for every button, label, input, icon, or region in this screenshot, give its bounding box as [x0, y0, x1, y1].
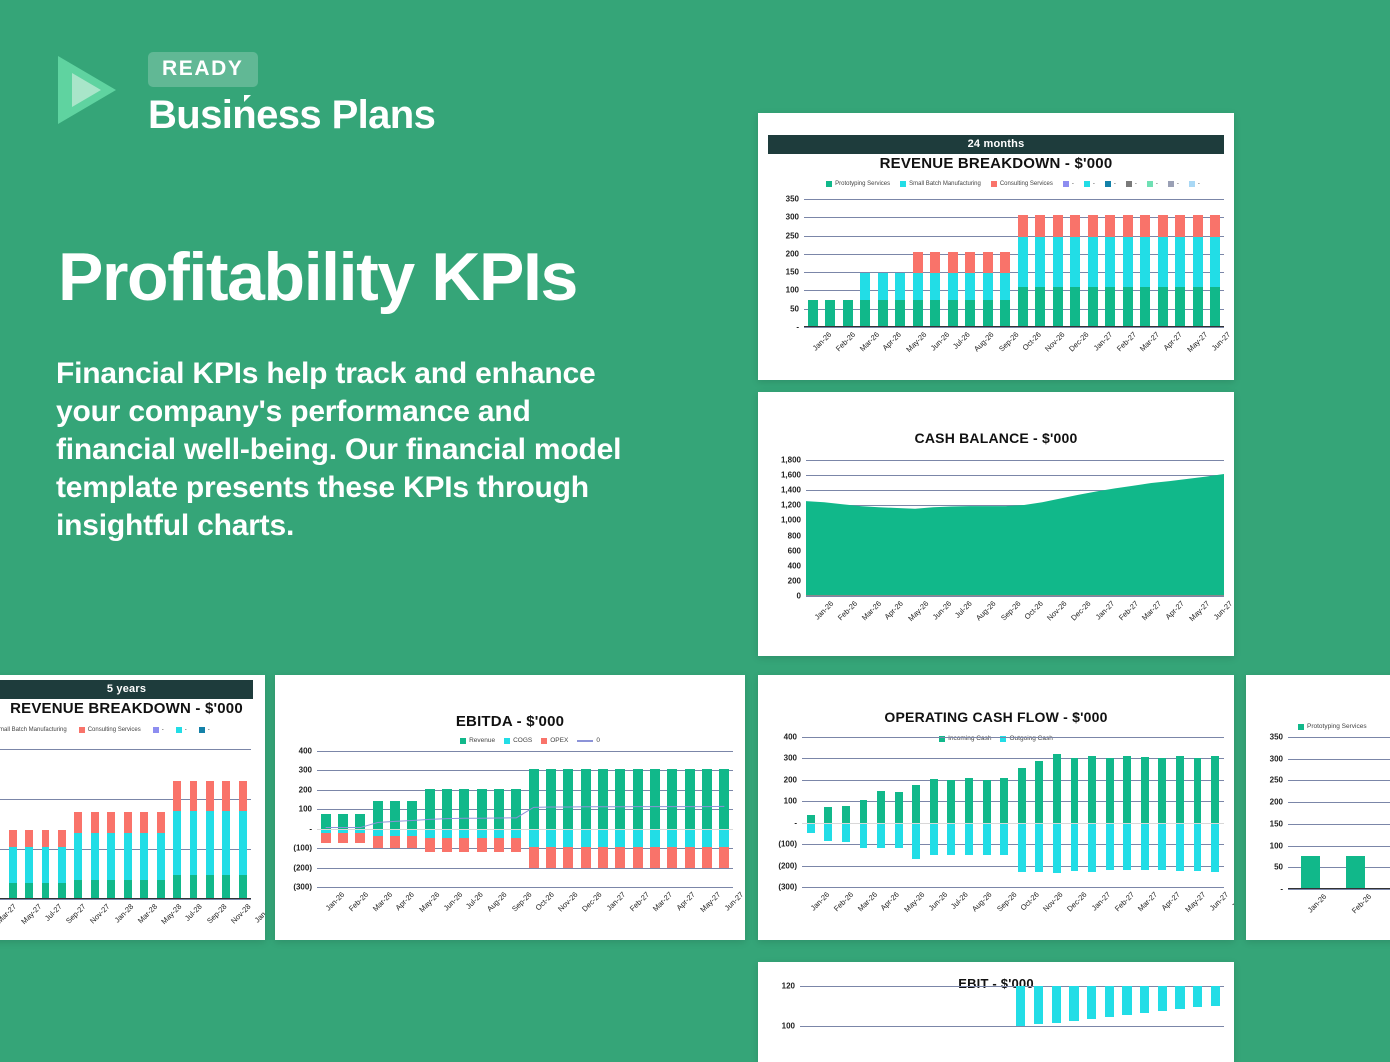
legend-label: Prototyping Services: [835, 181, 890, 187]
bar-group[interactable]: [21, 749, 37, 899]
legend-item[interactable]: -: [199, 727, 210, 733]
bar-segment: [1140, 237, 1150, 286]
legend-item[interactable]: -: [1063, 181, 1074, 187]
x-axis-tick-label: Sep-26: [997, 330, 1020, 353]
bar-group[interactable]: [1206, 986, 1224, 1062]
y-axis-tick-label: 200: [788, 576, 801, 585]
x-axis-tick-label: Mar-27: [1140, 599, 1163, 622]
bar-segment: [173, 781, 181, 811]
chart-card-cash-balance[interactable]: CASH BALANCE - $'000 02004006008001,0001…: [758, 392, 1234, 656]
legend-item[interactable]: OPEX: [541, 737, 568, 744]
chart-card-revenue-breakdown-24-months[interactable]: 24 months REVENUE BREAKDOWN - $'000 Prot…: [758, 113, 1234, 380]
bar-group[interactable]: [804, 199, 822, 327]
y-axis-tick-label: 300: [784, 754, 797, 763]
legend-item[interactable]: Prototyping Services: [1298, 723, 1367, 730]
y-axis-tick-label: 1,200: [781, 501, 801, 510]
x-axis-tick-label: Nov-27: [88, 902, 111, 925]
y-axis-tick-label: (100): [778, 840, 797, 849]
bar-group[interactable]: [857, 199, 875, 327]
bar-group[interactable]: [1118, 737, 1136, 887]
bar-segment: [25, 830, 33, 847]
bar-segment: [1088, 237, 1098, 286]
bar-segment: [824, 807, 832, 822]
chart-card-ebitda[interactable]: EBITDA - $'000 RevenueCOGSOPEX0 (300)(20…: [275, 675, 745, 940]
x-axis-tick-label: Mar-27: [0, 902, 18, 925]
bar-group[interactable]: [822, 199, 840, 327]
x-axis-tick-label: Dec-26: [581, 890, 604, 913]
bar-segment: [157, 812, 165, 833]
legend-item[interactable]: -: [1189, 181, 1200, 187]
legend-swatch-icon: [504, 738, 510, 744]
x-axis-tick-label: Feb-27: [628, 890, 651, 913]
bar-group[interactable]: [1013, 737, 1031, 887]
bar-segment: [1018, 287, 1028, 327]
legend-label: COGS: [513, 737, 532, 744]
bar-segment: [860, 300, 870, 327]
bar-group[interactable]: [120, 749, 136, 899]
legend-label: Small Batch Manufacturing: [909, 181, 981, 187]
x-axis-tick-label: Jan-26: [324, 890, 347, 913]
y-axis-tick-label: 150: [1270, 819, 1283, 828]
x-axis-tick-label: Mar-28: [135, 902, 158, 925]
bar-group[interactable]: [1137, 199, 1155, 327]
bar-segment: [1000, 273, 1010, 299]
x-axis-tick-label: May-27: [19, 902, 43, 926]
bar-group[interactable]: [1136, 737, 1154, 887]
bar-group[interactable]: [1065, 986, 1083, 1062]
bar-segment: [1088, 823, 1096, 873]
x-axis-tick-label: Jan-27: [1089, 890, 1112, 913]
bar-group[interactable]: [927, 199, 945, 327]
bar-segment: [222, 875, 230, 899]
chart-card-revenue-breakdown-5-years[interactable]: 5 years REVENUE BREAKDOWN - $'000 Small …: [0, 675, 265, 940]
bar-segment: [912, 823, 920, 859]
bar-segment: [91, 880, 99, 900]
bar-segment: [1070, 287, 1080, 327]
bar-segment: [1035, 237, 1045, 286]
bar-segment: [140, 812, 148, 833]
bar-segment: [825, 300, 835, 327]
bar: [1211, 986, 1220, 1006]
bar-group[interactable]: [1084, 199, 1102, 327]
legend-item[interactable]: -: [1105, 181, 1116, 187]
bar-segment: [930, 252, 940, 273]
bar-group[interactable]: [890, 737, 908, 887]
x-axis-tick-label: Oct-26: [1018, 890, 1040, 912]
bar-group[interactable]: [994, 986, 1012, 1062]
y-axis-tick-label: 150: [786, 268, 799, 277]
legend-label: -: [1156, 181, 1158, 187]
bar-group[interactable]: [235, 749, 251, 899]
bar-segment: [824, 823, 832, 841]
y-axis-tick-label: 600: [788, 546, 801, 555]
x-axis-tick-label: Jan-26: [809, 890, 832, 913]
bar-group[interactable]: [1119, 199, 1137, 327]
bar-group[interactable]: [1083, 737, 1101, 887]
bar-segment: [843, 300, 853, 327]
bar-group[interactable]: [1083, 986, 1101, 1062]
legend-label: 0: [596, 737, 600, 744]
legend-swatch-icon: [1084, 181, 1090, 187]
bar-group[interactable]: [1047, 986, 1065, 1062]
bar-segment: [807, 823, 815, 833]
bar-group[interactable]: [941, 986, 959, 1062]
legend-label: Consulting Services: [88, 727, 141, 733]
bar-segment: [895, 273, 905, 299]
bar-segment: [877, 823, 885, 848]
bar-group[interactable]: [1066, 737, 1084, 887]
bar-group[interactable]: [855, 737, 873, 887]
bar-group[interactable]: [1189, 986, 1207, 1062]
x-axis-tick-label: Feb-26: [832, 890, 855, 913]
x-axis-tick-label: Apr-26: [883, 599, 905, 621]
bar-segment: [124, 812, 132, 833]
bar-segment: [930, 273, 940, 299]
bar-group[interactable]: [1189, 199, 1207, 327]
x-axis-tick-label: Nov-26: [1041, 890, 1064, 913]
bar-group[interactable]: [802, 737, 820, 887]
bar-group[interactable]: [1032, 199, 1050, 327]
y-axis-tick-label: 300: [299, 766, 312, 775]
bar-segment: [1123, 823, 1131, 871]
bar-group[interactable]: [888, 986, 906, 1062]
legend-label: OPEX: [550, 737, 568, 744]
bar-group[interactable]: [1206, 737, 1224, 887]
x-axis-tick-label: Dec-26: [1070, 599, 1093, 622]
bar-group[interactable]: [995, 737, 1013, 887]
bar-segment: [74, 812, 82, 833]
y-axis-tick-label: 350: [1270, 733, 1283, 742]
y-axis-tick-label: 400: [788, 561, 801, 570]
x-axis-tick-label: Jan-27: [1093, 599, 1116, 622]
bar: [1087, 986, 1096, 1019]
bar: [1069, 986, 1078, 1021]
x-axis-tick-label: Nov-28: [229, 902, 252, 925]
bar-group[interactable]: [925, 737, 943, 887]
bar-group[interactable]: [979, 199, 997, 327]
y-axis-tick-label: 50: [1274, 863, 1283, 872]
y-axis-tick-label: 200: [786, 249, 799, 258]
bar-group[interactable]: [87, 749, 103, 899]
legend-item[interactable]: -: [1147, 181, 1158, 187]
y-axis-tick-label: -: [794, 818, 797, 827]
x-axis-tick-label: May-28: [160, 902, 184, 926]
y-axis-tick-label: 400: [299, 747, 312, 756]
bar-segment: [157, 833, 165, 880]
legend-item[interactable]: -: [1126, 181, 1137, 187]
play-triangle-icon: [58, 56, 134, 124]
bar-group[interactable]: [944, 199, 962, 327]
x-axis-tick-label: Jul-28: [183, 902, 204, 923]
bar-segment: [1175, 287, 1185, 327]
bar-group[interactable]: [924, 986, 942, 1062]
bar-group[interactable]: [909, 199, 927, 327]
bar-segment: [1106, 758, 1114, 823]
bar-segment: [107, 812, 115, 833]
chart-card-prototyping-services[interactable]: Prototyping Services -501001502002503003…: [1246, 675, 1390, 940]
bar-group[interactable]: [997, 199, 1015, 327]
bar-segment: [1210, 237, 1220, 286]
x-axis-tick-label: Feb-26: [1350, 892, 1373, 915]
bar-group[interactable]: [1288, 737, 1333, 889]
y-axis-tick-label: 1,400: [781, 486, 801, 495]
bar-group[interactable]: [218, 749, 234, 899]
y-axis-tick-label: (100): [293, 844, 312, 853]
legend-item[interactable]: Consulting Services: [79, 727, 141, 733]
chart-card-operating-cash-flow[interactable]: OPERATING CASH FLOW - $'000 Incoming Cas…: [758, 675, 1234, 940]
bar: [1122, 986, 1131, 1015]
chart-plot-area: 02004006008001,0001,2001,4001,6001,800Ja…: [806, 460, 1224, 596]
bar-segment: [912, 785, 920, 823]
bar-group[interactable]: [1101, 737, 1119, 887]
bar-segment: [913, 300, 923, 327]
bar-segment: [140, 880, 148, 900]
bar-segment: [965, 300, 975, 327]
bar-segment: [173, 811, 181, 875]
legend-label: Consulting Services: [1000, 181, 1053, 187]
bar-group[interactable]: [871, 986, 889, 1062]
bar-group[interactable]: [892, 199, 910, 327]
chart-card-ebit[interactable]: EBIT - $'000 80100120: [758, 962, 1234, 1062]
x-axis-labels: Jan-26Feb-26Mar-26Apr-26May-26Jun-26Jul-…: [802, 887, 1224, 899]
brand-logo: READY Business Plans: [58, 52, 435, 138]
bar-group[interactable]: [837, 737, 855, 887]
legend-item[interactable]: -: [1084, 181, 1095, 187]
bar-segment: [1053, 215, 1063, 237]
bar-segment: [190, 811, 198, 875]
y-axis-tick-label: -: [1280, 885, 1283, 894]
bar-segment: [1035, 761, 1043, 823]
chart-title: REVENUE BREAKDOWN - $'000: [758, 155, 1234, 172]
bar-segment: [930, 779, 938, 822]
bar-group[interactable]: [1154, 199, 1172, 327]
bar-segment: [239, 781, 247, 811]
bar-segment: [878, 273, 888, 299]
bar-group[interactable]: [1118, 986, 1136, 1062]
x-axis-tick-label: Apr-27: [675, 890, 697, 912]
bar-segment: [107, 833, 115, 880]
bar-group[interactable]: [962, 199, 980, 327]
bar-group[interactable]: [1048, 737, 1066, 887]
bar-segment: [1210, 215, 1220, 237]
legend-item[interactable]: 0: [577, 737, 600, 744]
legend-item[interactable]: -: [176, 727, 187, 733]
x-axis-tick-label: Oct-26: [1020, 330, 1042, 352]
bar-group[interactable]: [1136, 986, 1154, 1062]
bar-segment: [1070, 237, 1080, 286]
x-axis-tick-label: Jun-26: [927, 890, 950, 913]
zero-line: [317, 829, 733, 830]
x-axis-tick-label: Apr-27: [1164, 599, 1186, 621]
legend-item[interactable]: -: [1168, 181, 1179, 187]
bar-group[interactable]: [959, 986, 977, 1062]
bar-group[interactable]: [906, 986, 924, 1062]
bar-group[interactable]: [820, 737, 838, 887]
bar-segment: [1158, 287, 1168, 327]
legend-label: -: [208, 727, 210, 733]
y-axis-tick-label: 120: [782, 982, 795, 991]
x-axis-tick-label: Sep-27: [64, 902, 87, 925]
bar-segment: [965, 252, 975, 273]
legend-swatch-icon: [541, 738, 547, 744]
bar-segment: [107, 880, 115, 900]
bar-group[interactable]: [1171, 737, 1189, 887]
legend-item[interactable]: Small Batch Manufacturing: [900, 181, 981, 187]
bar-segment: [1193, 237, 1203, 286]
x-axis-tick-label: Aug-26: [972, 330, 995, 353]
x-axis-tick-label: Sep-26: [510, 890, 533, 913]
x-axis-tick-label: Jul-26: [953, 599, 974, 620]
bar-segment: [947, 780, 955, 822]
bar-group[interactable]: [1171, 986, 1189, 1062]
bar-group[interactable]: [1012, 986, 1030, 1062]
bar-segment: [42, 830, 50, 847]
legend-swatch-icon: [1147, 181, 1153, 187]
bar-segment: [1105, 237, 1115, 286]
legend-label: Revenue: [469, 737, 495, 744]
chart-legend: Prototyping Services: [1298, 723, 1390, 730]
x-axis-tick-label: Jan-29: [253, 902, 265, 925]
chart-title: OPERATING CASH FLOW - $'000: [758, 709, 1234, 725]
bar-segment: [1018, 768, 1026, 823]
bar-group[interactable]: [4, 749, 20, 899]
x-axis-tick-label: Apr-26: [394, 890, 416, 912]
bar-segment: [1123, 237, 1133, 286]
bar-group[interactable]: [818, 986, 836, 1062]
legend-label: -: [1093, 181, 1095, 187]
x-axis-tick-label: Jan-28: [112, 902, 135, 925]
bar-segment: [58, 847, 66, 883]
legend-item[interactable]: -: [153, 727, 164, 733]
legend-item[interactable]: Revenue: [460, 737, 495, 744]
bar-group[interactable]: [1030, 986, 1048, 1062]
bar-segment: [895, 792, 903, 822]
bar-group[interactable]: [1172, 199, 1190, 327]
bar-group[interactable]: [1153, 986, 1171, 1062]
x-axis-tick-label: May-27: [1185, 330, 1209, 354]
bar-segment: [1000, 823, 1008, 856]
x-axis-tick-label: May-26: [417, 890, 441, 914]
x-axis-tick-label: Nov-26: [556, 890, 579, 913]
y-axis-tick-label: (200): [778, 861, 797, 870]
y-axis-tick-label: 200: [299, 785, 312, 794]
bar-group[interactable]: [1102, 199, 1120, 327]
bar-group[interactable]: [907, 737, 925, 887]
bar-group[interactable]: [853, 986, 871, 1062]
bar-segment: [1053, 823, 1061, 873]
bar-segment: [1070, 215, 1080, 237]
bar-group[interactable]: [872, 737, 890, 887]
bar-segment: [1018, 237, 1028, 286]
bar: [1175, 986, 1184, 1009]
bar-group[interactable]: [977, 986, 995, 1062]
bar-segment: [1088, 756, 1096, 822]
bar-group[interactable]: [960, 737, 978, 887]
bar-segment: [808, 300, 818, 327]
bar-group[interactable]: [978, 737, 996, 887]
bar-group[interactable]: [103, 749, 119, 899]
legend-swatch-icon: [1298, 724, 1304, 730]
legend-swatch-icon: [1168, 181, 1174, 187]
bar-group[interactable]: [800, 986, 818, 1062]
bar-group[interactable]: [1067, 199, 1085, 327]
bar-group[interactable]: [54, 749, 70, 899]
y-axis-tick-label: 300: [786, 213, 799, 222]
bar-group[interactable]: [1378, 737, 1390, 889]
bar-segment: [74, 833, 82, 880]
x-axis-labels: Jan-26Feb-26Mar-26Apr-26May-26Jun-26Jul-…: [804, 327, 1224, 339]
bar-segment: [58, 830, 66, 847]
bar-segment: [1035, 287, 1045, 327]
bar-group[interactable]: [152, 749, 168, 899]
y-axis-tick-label: (200): [293, 863, 312, 872]
bar-group[interactable]: [943, 737, 961, 887]
bar-group[interactable]: [835, 986, 853, 1062]
chart-title: EBITDA - $'000: [275, 713, 745, 730]
bar-group[interactable]: [169, 749, 185, 899]
bar-group[interactable]: [1189, 737, 1207, 887]
bar-segment: [1194, 823, 1202, 871]
chart-band-label: 24 months: [768, 135, 1224, 154]
bar-segment: [190, 781, 198, 811]
bar-segment: [1194, 758, 1202, 822]
bar-segment: [124, 880, 132, 900]
bar-group[interactable]: [874, 199, 892, 327]
bar-segment: [222, 781, 230, 811]
bar-group[interactable]: [1333, 737, 1378, 889]
bar-group[interactable]: [185, 749, 201, 899]
x-axis-tick-label: Mar-27: [1138, 330, 1161, 353]
bar-group[interactable]: [1100, 986, 1118, 1062]
flag-accent-icon: [244, 95, 251, 102]
x-axis-tick-label: Jan-27: [1091, 330, 1114, 353]
legend-swatch-icon: [153, 727, 159, 733]
x-axis-tick-label: Mar-26: [371, 890, 394, 913]
legend-item[interactable]: Prototyping Services: [826, 181, 890, 187]
bar-group[interactable]: [202, 749, 218, 899]
bar-group[interactable]: [70, 749, 86, 899]
bar-group[interactable]: [37, 749, 53, 899]
bar-segment: [74, 880, 82, 900]
legend-label: -: [185, 727, 187, 733]
bar-segment: [860, 273, 870, 299]
bar-segment: [1175, 237, 1185, 286]
bar-group[interactable]: [839, 199, 857, 327]
x-axis-tick-label: May-26: [902, 890, 926, 914]
legend-swatch-icon: [176, 727, 182, 733]
y-axis-tick-label: 1,000: [781, 516, 801, 525]
bar-group[interactable]: [1049, 199, 1067, 327]
bar-segment: [948, 252, 958, 273]
bar-group[interactable]: [136, 749, 152, 899]
bar-segment: [930, 823, 938, 856]
brand-name: Business Plans: [148, 93, 435, 138]
bar-group[interactable]: [1014, 199, 1032, 327]
bar-segment: [878, 300, 888, 327]
bar-group[interactable]: [1154, 737, 1172, 887]
chart-plot-area: 80100120: [800, 986, 1224, 1062]
bar-segment: [239, 811, 247, 875]
legend-item[interactable]: Consulting Services: [991, 181, 1053, 187]
page-title: Profitability KPIs: [58, 238, 577, 316]
legend-item[interactable]: COGS: [504, 737, 532, 744]
bar-segment: [1071, 823, 1079, 871]
legend-item[interactable]: Small Batch Manufacturing: [0, 727, 67, 733]
chart-legend: Prototyping ServicesSmall Batch Manufact…: [798, 181, 1228, 187]
bar-group[interactable]: [1207, 199, 1225, 327]
x-axis-tick-label: Apr-27: [1160, 890, 1182, 912]
bar-group[interactable]: [1031, 737, 1049, 887]
